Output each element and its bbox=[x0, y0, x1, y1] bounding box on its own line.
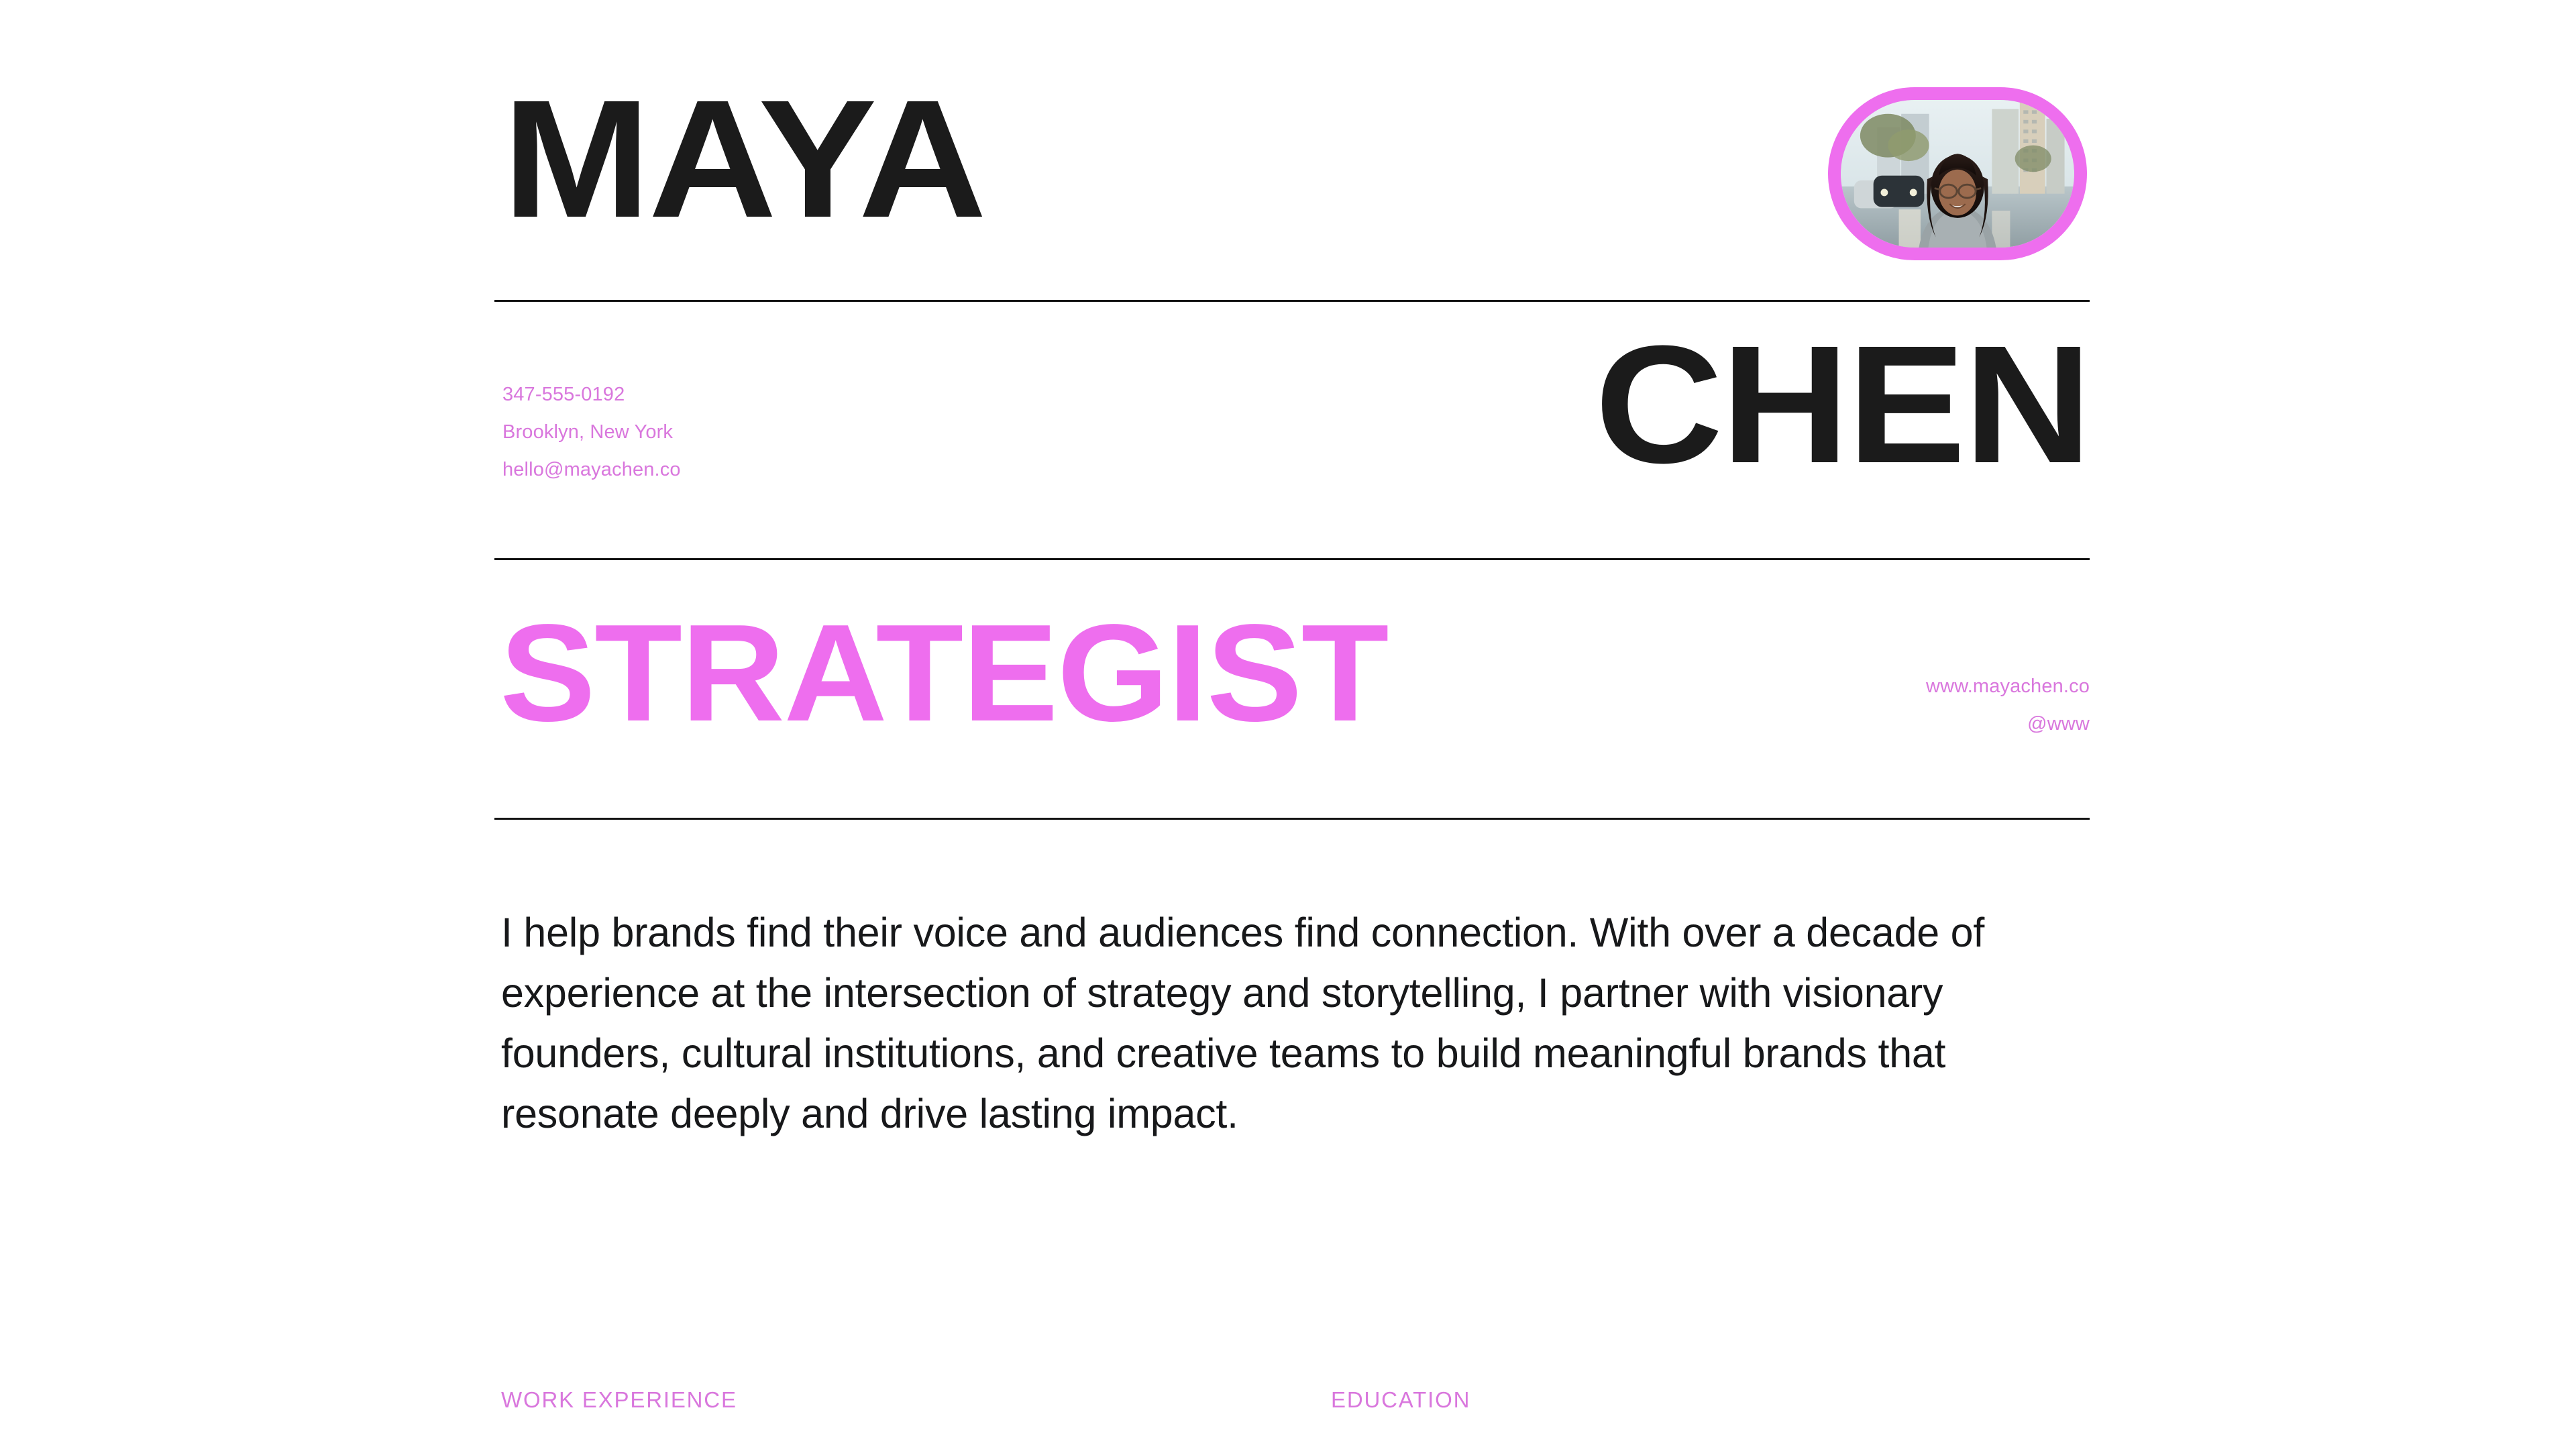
avatar-photo bbox=[1841, 100, 2074, 248]
contact-block: 347-555-0192 Brooklyn, New York hello@ma… bbox=[502, 376, 681, 488]
contact-location: Brooklyn, New York bbox=[502, 413, 681, 451]
page-title-last-name: CHEN bbox=[1595, 325, 2090, 484]
section-headings-row: WORK EXPERIENCE EDUCATION bbox=[494, 1387, 2090, 1428]
link-website[interactable]: www.mayachen.co bbox=[1926, 667, 2090, 705]
summary-paragraph: I help brands find their voice and audie… bbox=[501, 902, 2091, 1144]
contact-email[interactable]: hello@mayachen.co bbox=[502, 451, 681, 488]
page-title-first-name: MAYA bbox=[502, 79, 985, 239]
section-heading-work-experience: WORK EXPERIENCE bbox=[501, 1387, 737, 1413]
divider-1 bbox=[494, 300, 2090, 302]
header-row: MAYA bbox=[494, 79, 2090, 268]
link-handle[interactable]: @www bbox=[1926, 705, 2090, 743]
role-title: STRATEGIST bbox=[500, 604, 1388, 742]
section-heading-education: EDUCATION bbox=[1331, 1387, 1470, 1413]
divider-2 bbox=[494, 558, 2090, 560]
avatar bbox=[1828, 87, 2087, 260]
resume-page: MAYA bbox=[494, 0, 2090, 1449]
divider-3 bbox=[494, 818, 2090, 820]
contact-phone[interactable]: 347-555-0192 bbox=[502, 376, 681, 413]
links-block: www.mayachen.co @www bbox=[1926, 667, 2090, 743]
